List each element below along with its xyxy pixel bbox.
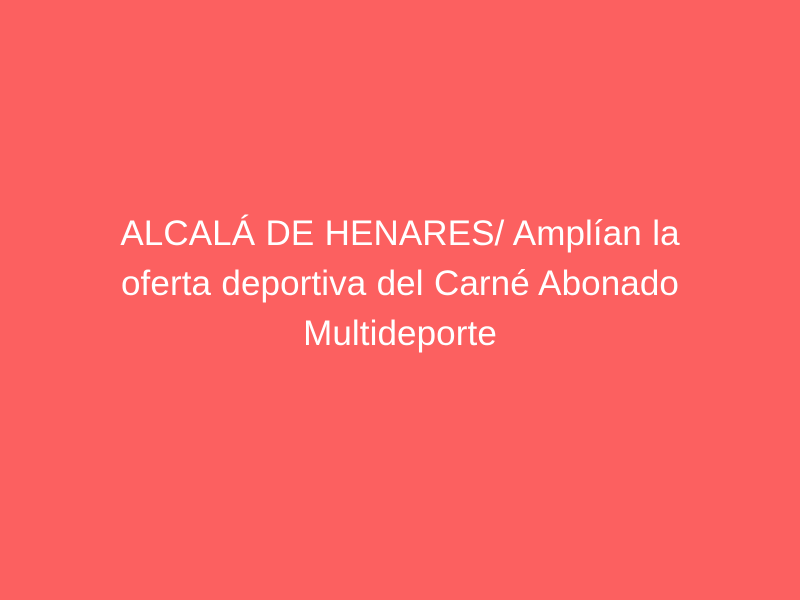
headline-block: ALCALÁ DE HENARES/ Amplían la oferta dep… [0, 0, 800, 600]
page-title: ALCALÁ DE HENARES/ Amplían la oferta dep… [80, 209, 720, 359]
placeholder-card: ALCALÁ DE HENARES/ Amplían la oferta dep… [0, 0, 800, 600]
